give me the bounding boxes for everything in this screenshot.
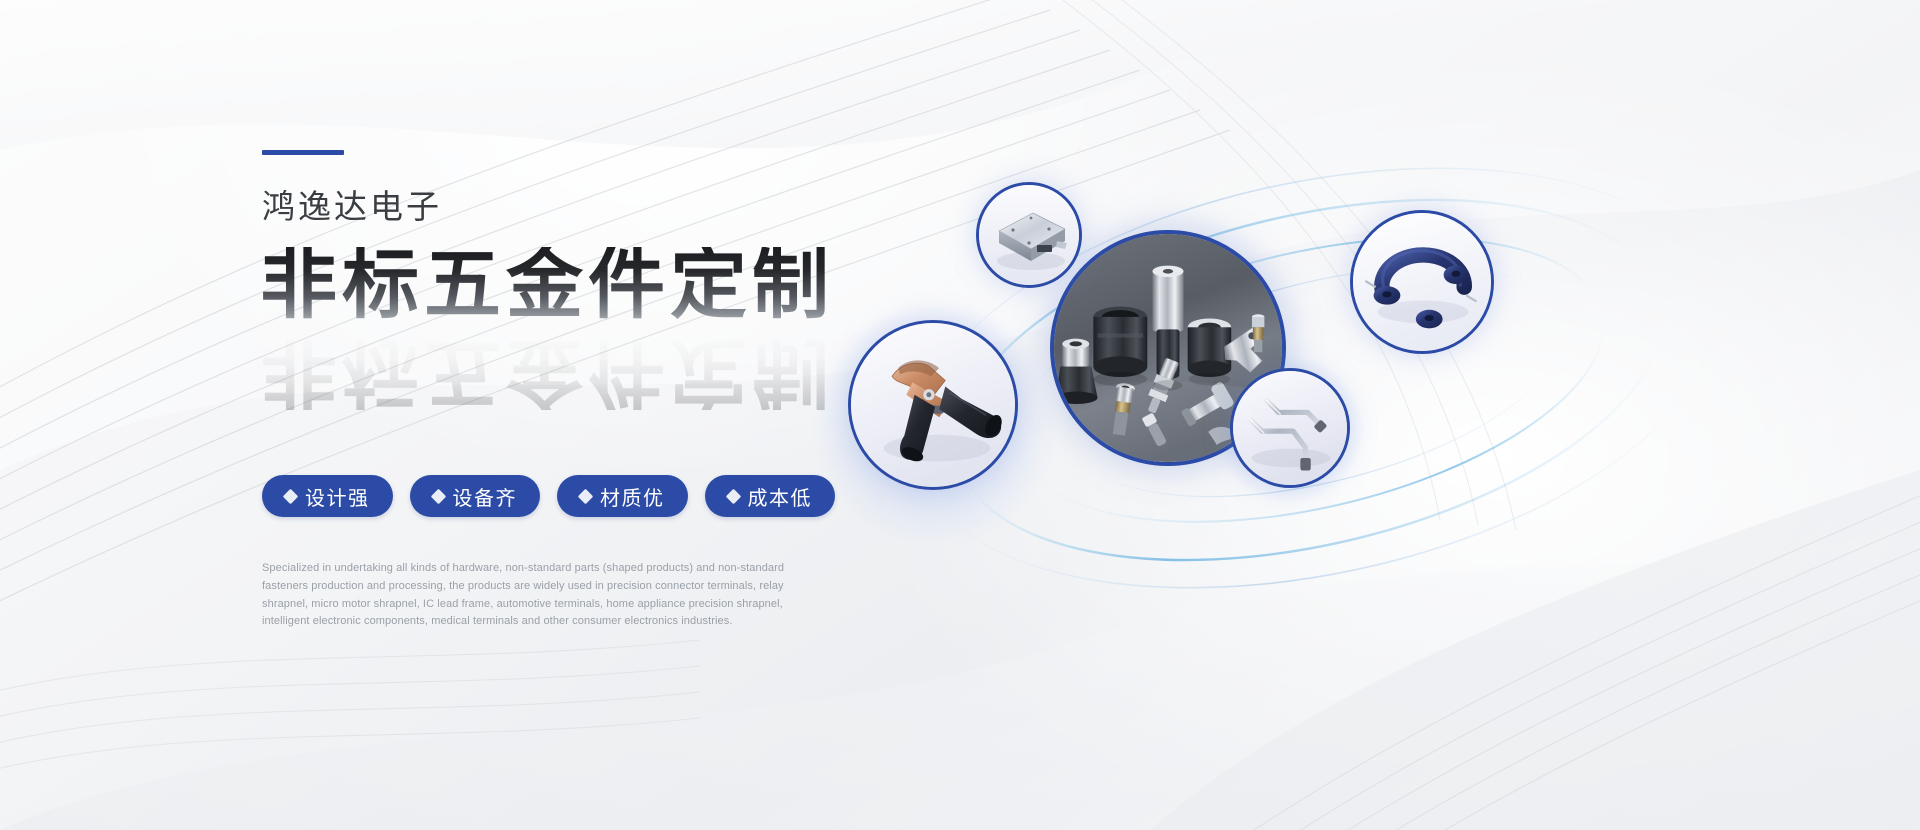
product-node-battery-clamp[interactable]: [848, 320, 1018, 490]
diamond-icon: [578, 488, 594, 504]
banner-description: Specialized in undertaking all kinds of …: [262, 560, 824, 631]
banner-text-block: 鸿逸达电子 非标五金件定制 非标五金件定制: [262, 150, 882, 397]
diamond-icon: [283, 488, 299, 504]
diamond-icon: [430, 488, 446, 504]
battery-clamp-photo: [851, 323, 1015, 487]
feature-pill-label: 材质优: [600, 482, 665, 511]
diamond-icon: [725, 488, 741, 504]
snap-retaining-ring-photo: [1353, 213, 1491, 351]
product-node-snap-ring[interactable]: [1350, 210, 1494, 354]
metal-enclosure-photo: [979, 185, 1079, 285]
feature-pill-design[interactable]: 设计强: [262, 475, 393, 517]
product-node-terminal-pins[interactable]: [1230, 368, 1350, 488]
feature-pill-list: 设计强 设备齐 材质优 成本低: [262, 475, 835, 517]
product-node-enclosure[interactable]: [976, 182, 1082, 288]
product-showcase: [930, 160, 1760, 590]
page-title: 非标五金件定制: [260, 247, 834, 324]
feature-pill-label: 设备齐: [453, 482, 518, 511]
feature-pill-label: 设计强: [305, 482, 370, 511]
hero-banner: 鸿逸达电子 非标五金件定制 非标五金件定制 设计强 设备齐 材质优 成本低 Sp…: [0, 0, 1920, 830]
accent-bar: [262, 150, 344, 155]
bent-terminal-pins-photo: [1233, 371, 1347, 485]
feature-pill-cost[interactable]: 成本低: [705, 475, 836, 517]
feature-pill-material[interactable]: 材质优: [557, 475, 688, 517]
headline-reflection: 非标五金件定制: [260, 333, 834, 410]
feature-pill-label: 成本低: [748, 482, 813, 511]
headline-wrapper: 非标五金件定制 非标五金件定制: [260, 247, 882, 397]
brand-name: 鸿逸达电子: [262, 189, 882, 225]
feature-pill-equipment[interactable]: 设备齐: [410, 475, 541, 517]
